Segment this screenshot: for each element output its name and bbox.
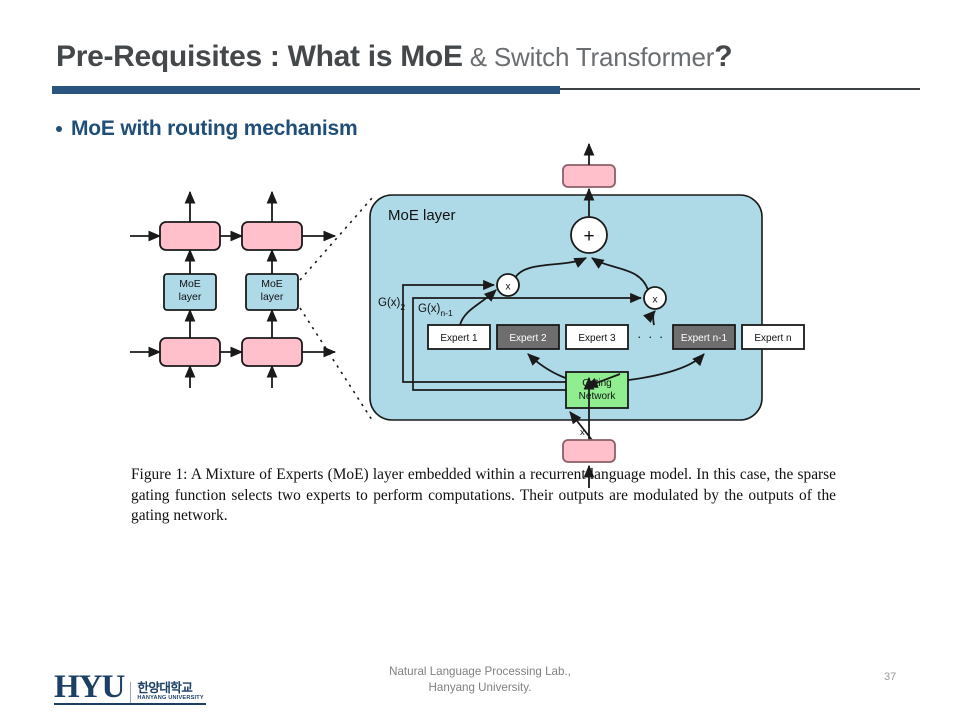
- footer-lab-info: Natural Language Processing Lab., Hanyan…: [330, 664, 630, 697]
- moe-input-box: [563, 440, 615, 462]
- gating-network-label-line2: Network: [579, 391, 617, 402]
- gating-network: Gating Network: [566, 372, 628, 408]
- bullet-item-label: MoE with routing mechanism: [71, 117, 357, 141]
- page-title: Pre-Requisites : What is MoE & Switch Tr…: [56, 40, 733, 74]
- moe-layer-box-2-line2: layer: [261, 291, 284, 303]
- logo-underline: [54, 703, 206, 705]
- recurrent-cell-top-2: [242, 222, 302, 250]
- recurrent-cell-bottom-2: [242, 338, 302, 366]
- expert-box-n-1-label: Expert n-1: [681, 333, 728, 344]
- page-title-question-mark: ?: [714, 40, 732, 73]
- logo-korean-name: 한양대학교: [137, 682, 204, 695]
- multiply-node-right: x: [644, 287, 666, 309]
- recurrent-cell-top-1: [160, 222, 220, 250]
- sum-node-symbol: +: [583, 226, 594, 247]
- expert-box-n-label: Expert n: [754, 333, 791, 344]
- moe-layer-panel-title: MoE layer: [388, 207, 456, 224]
- title-underline-thin: [560, 88, 920, 90]
- multiply-node-right-symbol: x: [653, 295, 658, 306]
- bullet-dot-icon: [56, 126, 62, 132]
- recurrent-network-left: MoE layer MoE layer: [130, 192, 335, 388]
- input-label-x: x: [580, 427, 585, 438]
- moe-layer-box-1-line1: MoE: [179, 278, 201, 290]
- moe-layer-box-2-line1: MoE: [261, 278, 283, 290]
- moe-output-box: [563, 165, 615, 187]
- zoom-connector-lower: [300, 308, 372, 420]
- expert-row: Expert 1 Expert 2 Expert 3 · · · Expert …: [428, 325, 804, 349]
- expert-box-2-label: Expert 2: [509, 333, 547, 344]
- logo-english-name: HANYANG UNIVERSITY: [137, 695, 204, 701]
- expert-box-1-label: Expert 1: [440, 333, 478, 344]
- multiply-node-left: x: [497, 274, 519, 296]
- multiply-node-left-symbol: x: [506, 282, 511, 293]
- expert-ellipsis: · · ·: [637, 329, 665, 344]
- figure-caption: Figure 1: A Mixture of Experts (MoE) lay…: [131, 465, 836, 527]
- expert-box-3-label: Expert 3: [578, 333, 616, 344]
- page-title-main: Pre-Requisites : What is MoE: [56, 40, 463, 73]
- moe-layer-box-1-line2: layer: [179, 291, 202, 303]
- logo-text-block: 한양대학교 HANYANG UNIVERSITY: [130, 682, 204, 703]
- zoom-connector-upper: [300, 198, 372, 280]
- sum-node: +: [571, 217, 607, 253]
- bullet-item: MoE with routing mechanism: [56, 117, 357, 141]
- page-number: 37: [884, 671, 896, 683]
- zoom-connector-lines: [300, 198, 372, 420]
- page-title-sub: & Switch Transformer: [463, 42, 715, 72]
- footer-lab-line1: Natural Language Processing Lab.,: [330, 664, 630, 680]
- footer-lab-line2: Hanyang University.: [330, 680, 630, 696]
- recurrent-cell-bottom-1: [160, 338, 220, 366]
- title-underline-accent: [52, 86, 560, 94]
- logo-wordmark: HYU: [54, 672, 124, 703]
- university-logo: HYU 한양대학교 HANYANG UNIVERSITY: [54, 667, 206, 703]
